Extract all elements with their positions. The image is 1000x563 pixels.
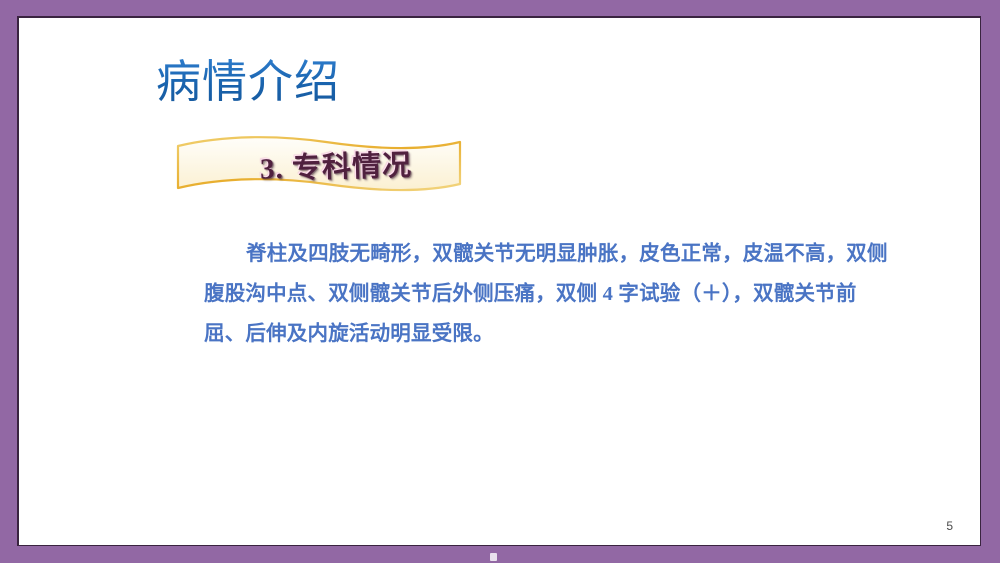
section-banner: 3. 专科情况	[174, 132, 464, 198]
presentation-slide: 病情介绍 3. 专科情况	[0, 0, 1000, 563]
body-line: 腹股沟中点、双侧髋关节后外侧压痛，双侧 4 字试验（＋），双髋关节前	[204, 274, 910, 314]
bottom-center-marker	[490, 553, 497, 561]
page-title: 病情介绍	[156, 54, 340, 110]
slide-canvas: 病情介绍 3. 专科情况	[19, 18, 980, 545]
section-banner-label: 3. 专科情况	[173, 128, 465, 201]
body-line-text: 脊柱及四肢无畸形，双髋关节无明显肿胀，皮色正常，皮温不高，双侧	[246, 243, 888, 265]
body-paragraph: 脊柱及四肢无畸形，双髋关节无明显肿胀，皮色正常，皮温不高，双侧 腹股沟中点、双侧…	[204, 234, 910, 354]
body-line: 屈、后伸及内旋活动明显受限。	[204, 314, 910, 354]
slide-number: 5	[946, 519, 953, 533]
body-line: 脊柱及四肢无畸形，双髋关节无明显肿胀，皮色正常，皮温不高，双侧	[204, 234, 910, 274]
